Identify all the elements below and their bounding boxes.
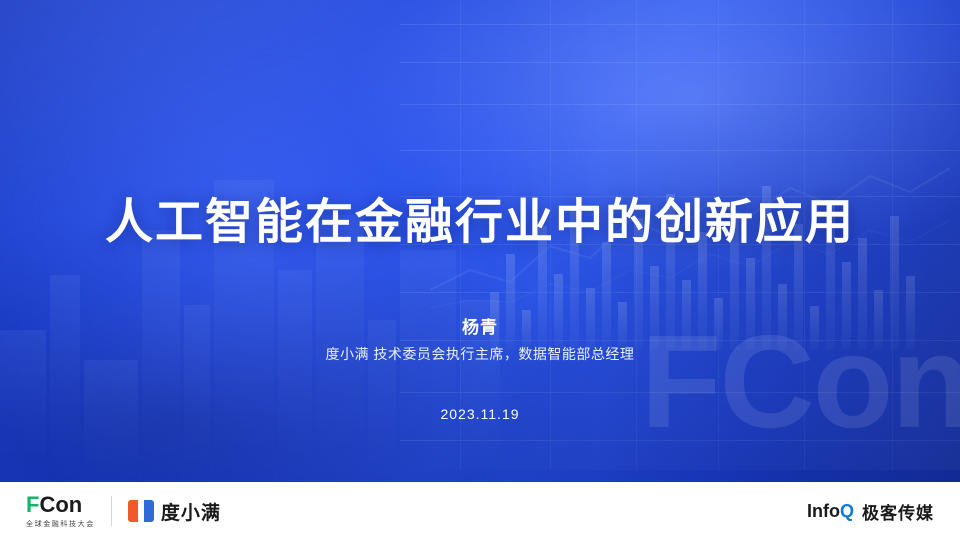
footer-divider [111, 496, 112, 526]
fcon-wordmark: FCon [26, 494, 95, 516]
fcon-logo: FCon 全球金融科技大会 [26, 494, 95, 529]
page-title: 人工智能在金融行业中的创新应用 [0, 182, 960, 252]
fcon-letter-f: F [26, 494, 39, 516]
fcon-letters-con: Con [39, 494, 82, 516]
speaker-role: 度小满 技术委员会执行主席，数据智能部总经理 [0, 344, 960, 364]
duxiaoman-logo: 度小满 [128, 498, 221, 525]
infoq-partner-name: 极客传媒 [862, 499, 934, 524]
duxiaoman-logo-icon [128, 500, 154, 522]
speaker-name: 杨青 [0, 313, 960, 338]
background-sheen [0, 0, 960, 540]
event-date: 2023.11.19 [0, 406, 960, 422]
duxiaoman-name: 度小满 [161, 498, 221, 525]
infoq-word-info: Info [807, 501, 840, 521]
fcon-subtitle: 全球金融科技大会 [26, 519, 95, 529]
footer-bar: FCon 全球金融科技大会 度小满 InfoQ 极客传媒 [0, 482, 960, 540]
presentation-slide: FCon 人工智能在金融行业中的创新应用 杨青 度小满 技术委员会执行主席，数据… [0, 0, 960, 540]
infoq-word-q: Q [840, 501, 854, 521]
footer-right-logos: InfoQ 极客传媒 [807, 499, 934, 524]
footer-left-logos: FCon 全球金融科技大会 度小满 [26, 494, 221, 529]
infoq-logo: InfoQ [807, 501, 854, 522]
